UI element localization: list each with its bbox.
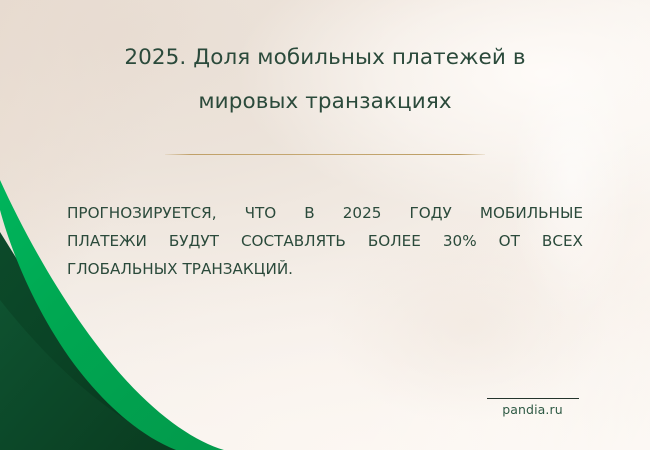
body-word: ТРАНЗАКЦИЙ. <box>183 255 294 283</box>
watermark-text: pandia.ru <box>480 402 585 417</box>
body-line-1: ПРОГНОЗИРУЕТСЯ,ЧТОВ2025ГОДУМОБИЛЬНЫЕ <box>67 199 583 227</box>
watermark-rule <box>487 398 579 399</box>
body-word: 30% <box>443 227 477 255</box>
body-word: МОБИЛЬНЫЕ <box>480 199 583 227</box>
body-word: ПЛАТЕЖИ <box>67 227 147 255</box>
title-block: 2025. Доля мобильных платежей в мировых … <box>70 36 580 124</box>
title-line-2: мировых транзакциях <box>70 80 580 124</box>
body-line-3: ГЛОБАЛЬНЫХТРАНЗАКЦИЙ. <box>67 255 583 283</box>
body-word: СОСТАВЛЯТЬ <box>241 227 346 255</box>
body-line-2: ПЛАТЕЖИБУДУТСОСТАВЛЯТЬБОЛЕЕ30%ОТВСЕХ <box>67 227 583 255</box>
body-word: БОЛЕЕ <box>368 227 421 255</box>
body-word: ВСЕХ <box>542 227 583 255</box>
body-word: ОТ <box>499 227 520 255</box>
body-text-block: ПРОГНОЗИРУЕТСЯ,ЧТОВ2025ГОДУМОБИЛЬНЫЕ ПЛА… <box>67 199 583 283</box>
body-word: ГОДУ <box>409 199 451 227</box>
body-word: БУДУТ <box>169 227 219 255</box>
slide-canvas: 2025. Доля мобильных платежей в мировых … <box>0 0 650 450</box>
body-word: В <box>304 199 314 227</box>
body-word: 2025 <box>343 199 382 227</box>
gold-divider <box>165 154 485 155</box>
title-line-1: 2025. Доля мобильных платежей в <box>70 36 580 80</box>
body-word: ЧТО <box>245 199 277 227</box>
body-word: ГЛОБАЛЬНЫХ <box>67 255 178 283</box>
watermark: pandia.ru <box>480 398 585 417</box>
body-word: ПРОГНОЗИРУЕТСЯ, <box>67 199 217 227</box>
